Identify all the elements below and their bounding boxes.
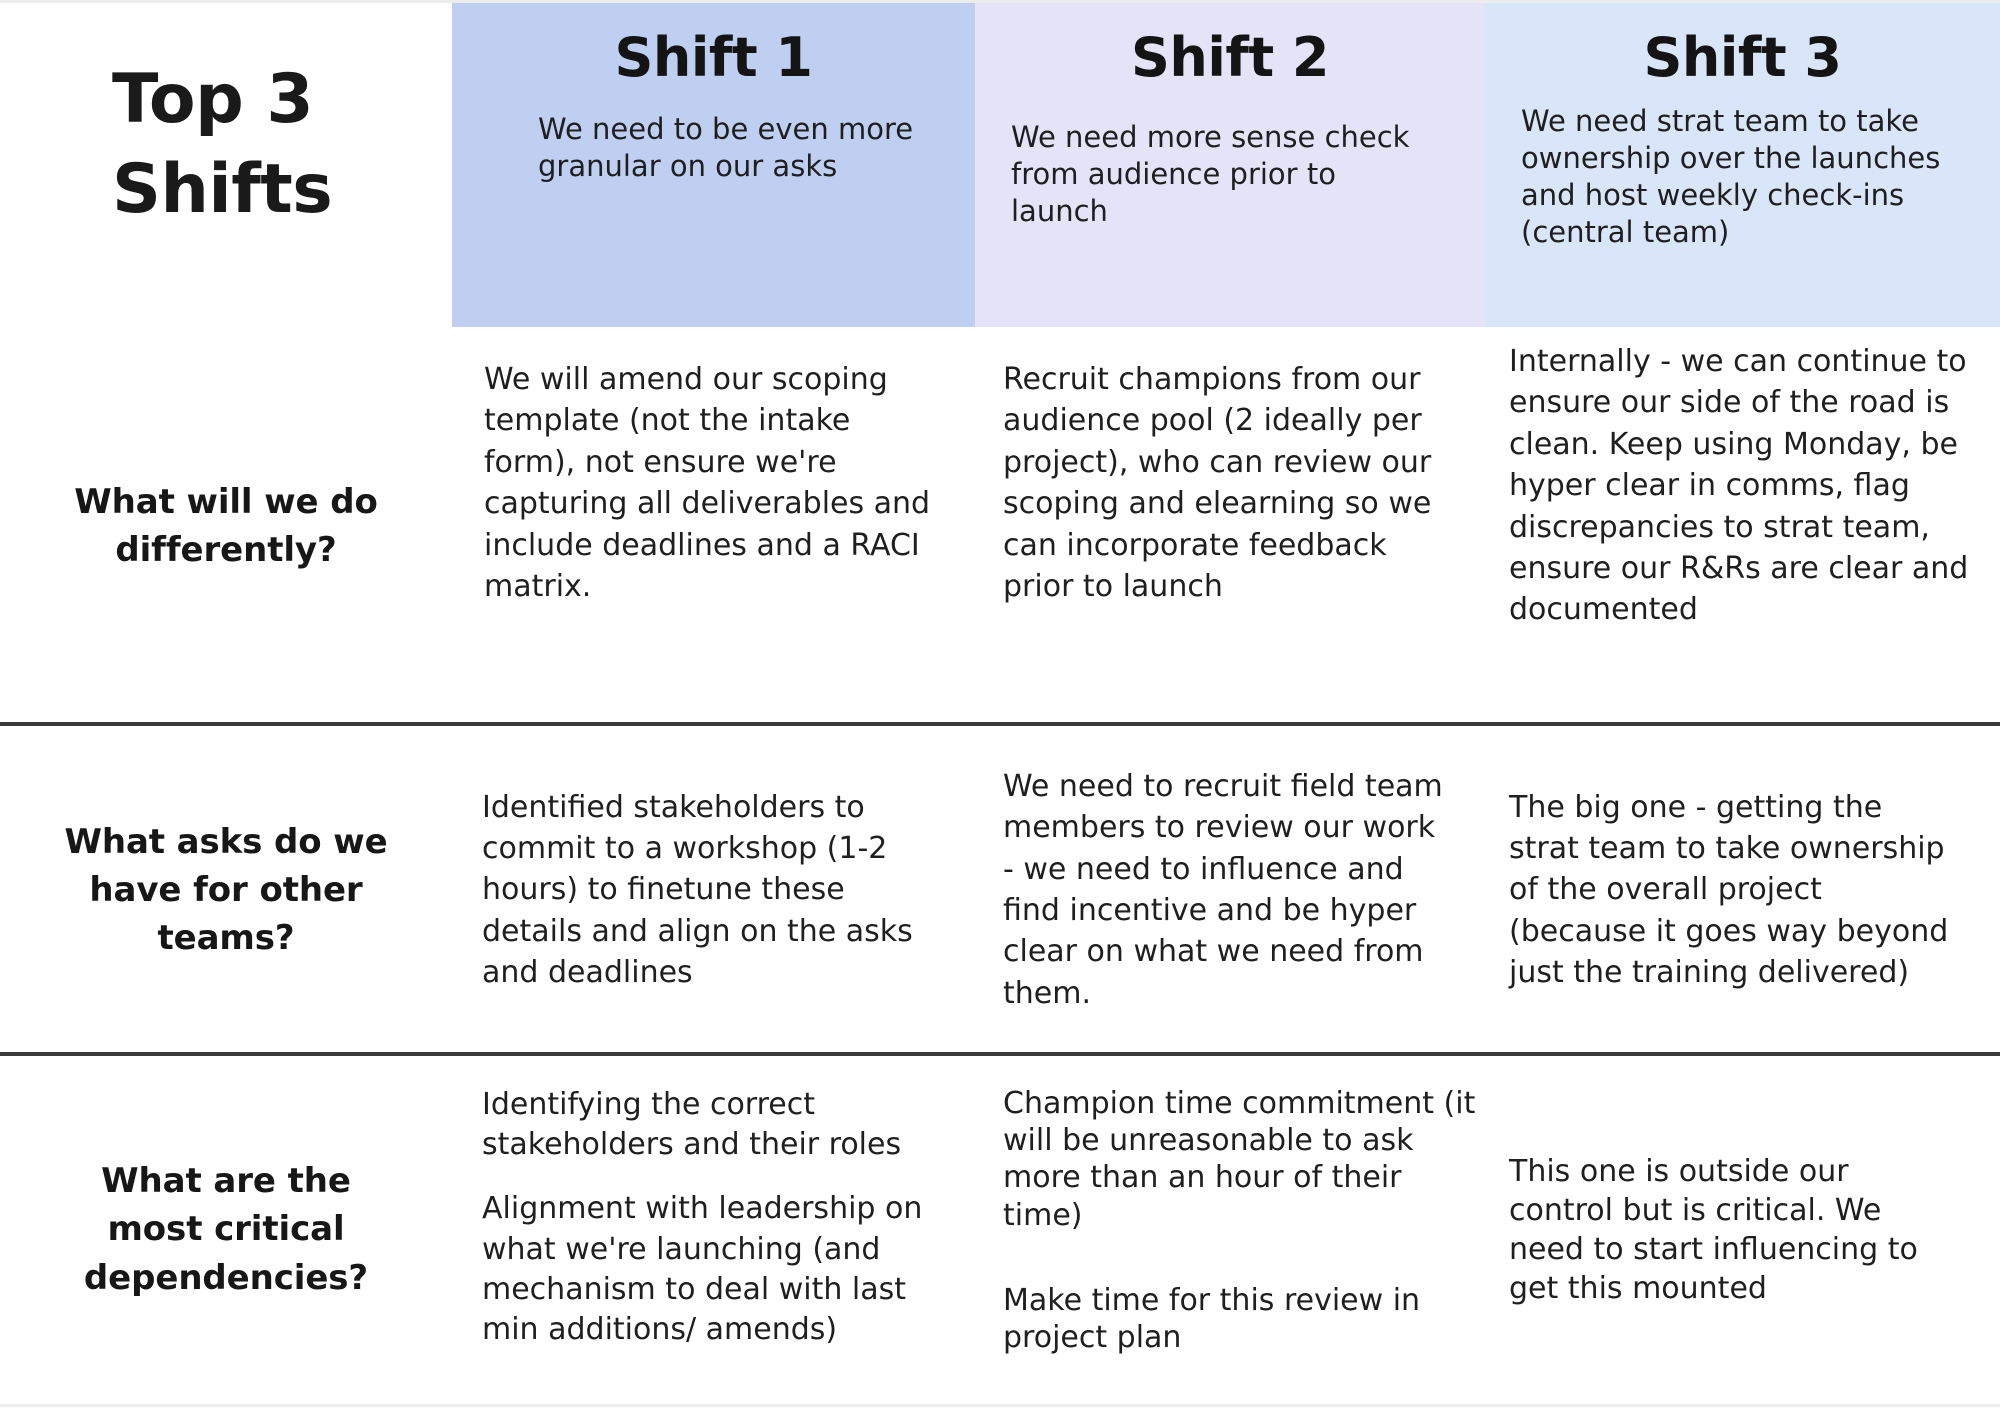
shift3-subtitle: We need strat team to take ownership ove… xyxy=(1521,103,1964,251)
cell-paragraph: Recruit champions from our audience pool… xyxy=(1003,359,1449,607)
cell-paragraph: Internally - we can continue to ensure o… xyxy=(1509,341,1994,631)
cell-paragraph: Identifying the correct stakeholders and… xyxy=(482,1085,959,1165)
cell-paragraph: We need to recruit field team members to… xyxy=(1003,766,1443,1014)
cell-paragraph: The big one - getting the strat team to … xyxy=(1509,787,1950,994)
cell-paragraph: Champion time commitment (it will be unr… xyxy=(1003,1085,1481,1234)
cell-row1-shift3: Internally - we can continue to ensure o… xyxy=(1485,327,2000,725)
cell-row2-shift3: The big one - getting the strat team to … xyxy=(1485,725,2000,1055)
column-header-shift-2: Shift 2 We need more sense check from au… xyxy=(975,3,1485,327)
shift3-title: Shift 3 xyxy=(1521,27,1964,89)
cell-paragraph: We will amend our scoping template (not … xyxy=(484,359,945,607)
row-label-what-asks-do-we-have-for-other-teams: What asks do we have for other teams? xyxy=(60,818,392,963)
row-label-cell-1: What will we do differently? xyxy=(0,327,452,725)
row-label-cell-2: What asks do we have for other teams? xyxy=(0,725,452,1055)
cell-paragraph: Make time for this review in project pla… xyxy=(1003,1282,1481,1356)
top-3-shifts-matrix: Top 3 Shifts Shift 1 We need to be even … xyxy=(0,0,2000,1418)
shift2-title: Shift 2 xyxy=(1011,27,1449,89)
cell-row3-shift2: Champion time commitment (it will be unr… xyxy=(975,1055,1485,1404)
column-header-shift-1: Shift 1 We need to be even more granular… xyxy=(452,3,975,327)
page-title-line-2: Shifts xyxy=(112,145,418,235)
shift1-subtitle: We need to be even more granular on our … xyxy=(488,111,939,185)
page-title-line-1: Top 3 xyxy=(112,55,418,145)
cell-row2-shift1: Identified stakeholders to commit to a w… xyxy=(452,725,975,1055)
page-title: Top 3 Shifts xyxy=(34,55,418,235)
cell-paragraph: Identified stakeholders to commit to a w… xyxy=(482,787,933,994)
shift2-subtitle: We need more sense check from audience p… xyxy=(1011,119,1449,230)
cell-paragraph: Alignment with leadership on what we're … xyxy=(482,1189,959,1350)
cell-row1-shift1: We will amend our scoping template (not … xyxy=(452,327,975,725)
cell-row1-shift2: Recruit champions from our audience pool… xyxy=(975,327,1485,725)
row-label-what-will-we-do-differently: What will we do differently? xyxy=(60,478,392,575)
row-label-cell-3: What are the most critical dependencies? xyxy=(0,1055,452,1404)
cell-row2-shift2: We need to recruit field team members to… xyxy=(975,725,1485,1055)
matrix-grid: Top 3 Shifts Shift 1 We need to be even … xyxy=(0,3,2000,1404)
cell-row3-shift1: Identifying the correct stakeholders and… xyxy=(452,1055,975,1404)
page-title-cell: Top 3 Shifts xyxy=(0,3,452,327)
row-divider-1 xyxy=(0,722,2000,726)
row-divider-2 xyxy=(0,1052,2000,1056)
column-header-shift-3: Shift 3 We need strat team to take owner… xyxy=(1485,3,2000,327)
cell-paragraph: This one is outside our control but is c… xyxy=(1509,1152,1940,1308)
cell-row3-shift3: This one is outside our control but is c… xyxy=(1485,1055,2000,1404)
shift1-title: Shift 1 xyxy=(488,27,939,89)
bottom-divider xyxy=(0,1404,2000,1407)
row-label-what-are-the-most-critical-dependencies: What are the most critical dependencies? xyxy=(60,1157,392,1302)
